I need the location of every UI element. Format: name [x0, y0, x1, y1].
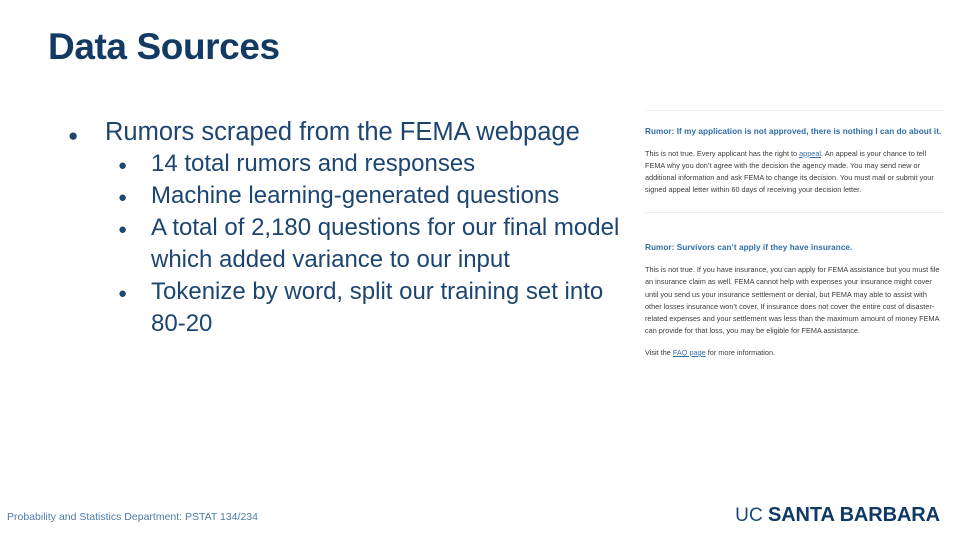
list-item-label: 14 total rumors and responses: [151, 148, 638, 180]
appeal-link[interactable]: appeal: [799, 149, 821, 158]
paragraph-text-before-link: Visit the: [645, 348, 673, 357]
ucsb-logo: UC SANTA BARBARA: [735, 504, 940, 527]
list-item: ● Tokenize by word, split our training s…: [118, 276, 638, 340]
bullet-marker-icon: ●: [118, 212, 151, 237]
spacer: [645, 196, 945, 212]
rumor-heading: Rumor: Survivors can’t apply if they hav…: [645, 241, 945, 255]
paragraph-text-after-link: for more information.: [706, 348, 775, 357]
fema-webpage-screenshot: Rumor: If my application is not approved…: [645, 110, 945, 359]
faq-page-link[interactable]: FAQ page: [673, 348, 706, 357]
list-item: ● Machine learning-generated questions: [118, 180, 638, 212]
rumor-block: Rumor: Survivors can’t apply if they hav…: [645, 213, 945, 359]
rumor-block: Rumor: If my application is not approved…: [645, 111, 945, 212]
bullet-marker-icon: ●: [118, 180, 151, 205]
bullet-list: ● Rumors scraped from the FEMA webpage ●…: [68, 116, 638, 340]
ucsb-logo-name: SANTA BARBARA: [768, 504, 940, 527]
list-item: ● 14 total rumors and responses: [118, 148, 638, 180]
bullet-marker-icon: ●: [118, 148, 151, 173]
list-item-label: Tokenize by word, split our training set…: [151, 276, 638, 340]
slide-canvas: Data Sources ● Rumors scraped from the F…: [0, 0, 960, 540]
rumor-faq-paragraph: Visit the FAQ page for more information.: [645, 347, 945, 359]
ucsb-logo-prefix: UC: [735, 505, 763, 527]
paragraph-text-before-link: This is not true. If you have insurance,…: [645, 265, 939, 334]
rumor-answer-paragraph: This is not true. If you have insurance,…: [645, 264, 945, 337]
page-title: Data Sources: [48, 26, 280, 69]
bullet-marker-icon: ●: [68, 116, 105, 144]
paragraph-text-before-link: This is not true. Every applicant has th…: [645, 149, 799, 158]
list-item: ● Rumors scraped from the FEMA webpage: [68, 116, 638, 148]
rumor-heading: Rumor: If my application is not approved…: [645, 125, 945, 139]
bullet-marker-icon: ●: [118, 276, 151, 301]
list-item-label: Rumors scraped from the FEMA webpage: [105, 116, 638, 148]
list-item-label: A total of 2,180 questions for our final…: [151, 212, 638, 276]
list-item: ● A total of 2,180 questions for our fin…: [118, 212, 638, 276]
rumor-answer-paragraph: This is not true. Every applicant has th…: [645, 148, 945, 196]
footer-course-label: Probability and Statistics Department: P…: [7, 511, 258, 523]
list-item-label: Machine learning-generated questions: [151, 180, 638, 212]
